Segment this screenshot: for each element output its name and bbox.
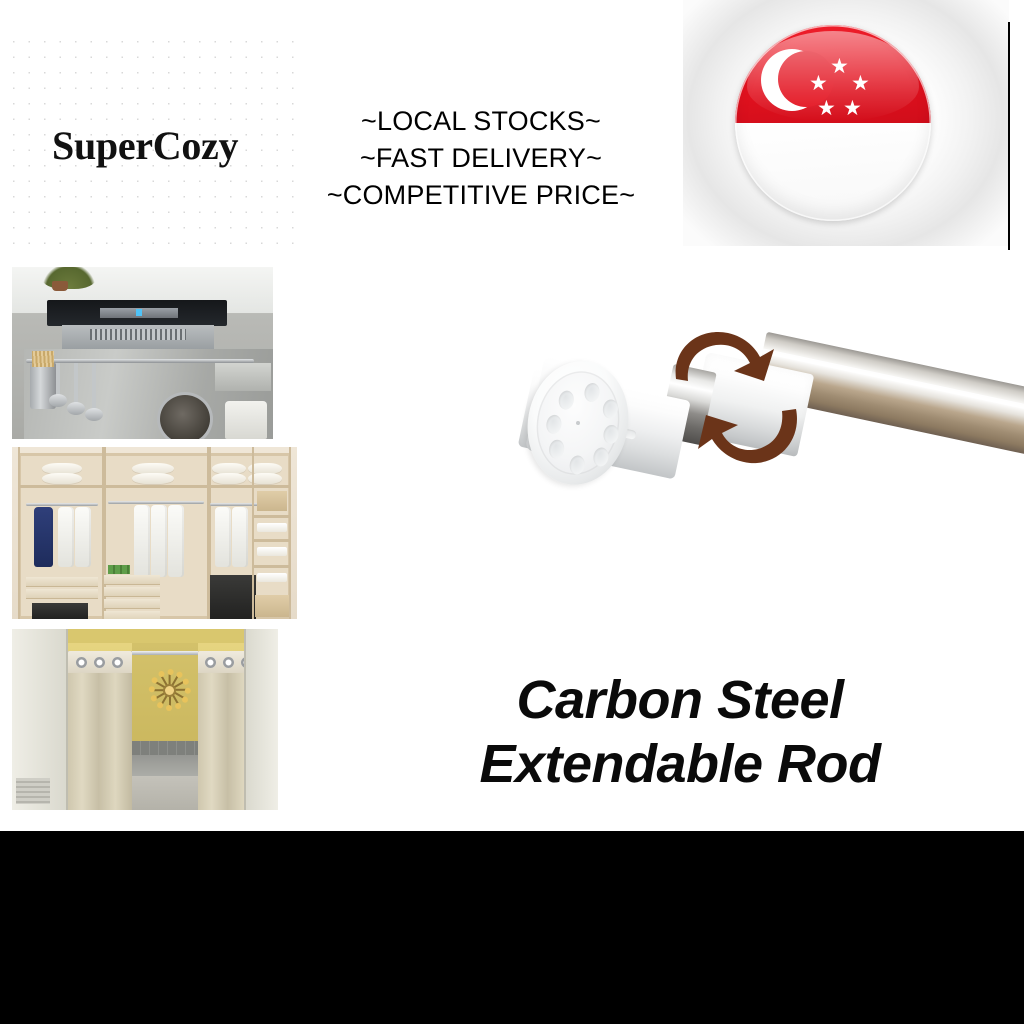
hanging-ladle-2 — [74, 363, 78, 405]
right-shelf-1 — [252, 515, 291, 518]
tagline-competitive-price: ~COMPETITIVE PRICE~ — [288, 177, 674, 214]
hanging-shirt-4 — [151, 505, 167, 577]
end-cap-face — [529, 365, 628, 482]
cap-dimple-2 — [557, 389, 575, 410]
flag-white-band — [735, 123, 931, 221]
folded-linen-3 — [257, 573, 287, 582]
flag-star-5: ★ — [843, 98, 862, 119]
product-listing-image: SuperCozy ~LOCAL STOCKS~ ~FAST DELIVERY~… — [0, 0, 1024, 1024]
drawer-center-4 — [104, 611, 160, 619]
tile-wainscot — [132, 741, 198, 755]
tagline-fast-delivery: ~FAST DELIVERY~ — [288, 140, 674, 177]
thumbnail-wardrobe-scene — [12, 447, 297, 619]
tagline-group: ~LOCAL STOCKS~ ~FAST DELIVERY~ ~COMPETIT… — [288, 103, 674, 214]
hanging-shirt-5 — [168, 505, 184, 577]
extendable-tension-rod-photo — [430, 275, 1024, 655]
hanging-trousers — [210, 575, 256, 619]
cap-dimple-1 — [583, 382, 601, 403]
wall-vent — [16, 778, 50, 804]
right-shelf-2 — [252, 539, 291, 542]
product-title-line-1: Carbon Steel — [420, 668, 940, 732]
range-hood-vent-grille — [90, 329, 186, 340]
tagline-local-stocks: ~LOCAL STOCKS~ — [288, 103, 674, 140]
bottom-drawer-right — [255, 595, 289, 617]
drawer-center-3 — [104, 599, 160, 609]
grommet-l1 — [76, 657, 87, 668]
cap-center-dot — [576, 421, 581, 426]
grommet-r1 — [205, 657, 216, 668]
folded-linen-1 — [257, 523, 287, 532]
cap-dimple-6 — [548, 439, 566, 460]
right-shelf-3 — [252, 565, 291, 568]
brand-logo: SuperCozy — [52, 122, 238, 169]
hanging-ladle-1 — [56, 363, 60, 397]
pillow-4 — [132, 473, 174, 484]
drawer-center-2 — [104, 587, 160, 597]
hanging-shirt-1 — [58, 507, 74, 567]
drawer-left-1 — [26, 577, 98, 587]
hanging-frying-pan — [160, 395, 210, 439]
twist-arrow-bottom-icon — [688, 381, 808, 473]
storage-bottles — [108, 565, 130, 574]
grommet-r2 — [223, 657, 234, 668]
cap-dimple-8 — [568, 454, 586, 475]
drawer-left-2 — [26, 589, 98, 599]
thumbnail-kitchen-rail-scene — [12, 267, 273, 439]
flag-star-3: ★ — [851, 73, 870, 94]
wooden-utensils — [32, 351, 54, 367]
flag-star-2: ★ — [809, 73, 828, 94]
electric-kettle — [225, 401, 267, 439]
flag-star-1: ★ — [830, 56, 849, 77]
closet-rod-center — [108, 501, 204, 504]
hanging-shirt-7 — [232, 507, 248, 567]
closet-rod-left — [26, 503, 98, 506]
hanging-shirt-3 — [134, 505, 150, 577]
hanging-ladle-3 — [92, 363, 96, 411]
hanging-shirt-blue — [34, 507, 53, 567]
clock-center — [165, 686, 174, 695]
kitchen-side-shelf — [215, 363, 271, 391]
cap-dimple-4 — [545, 414, 563, 435]
header-banner: SuperCozy ~LOCAL STOCKS~ ~FAST DELIVERY~… — [0, 0, 1024, 262]
right-door-panel — [244, 629, 278, 810]
drawer-center-1 — [104, 575, 160, 585]
hanging-shirt-6 — [215, 507, 231, 567]
cap-dimple-5 — [602, 424, 620, 445]
folded-linen-2 — [257, 547, 287, 556]
hanging-shirt-2 — [75, 507, 91, 567]
plant-pot — [52, 281, 68, 291]
folded-dark-clothes — [32, 603, 88, 619]
pillow-2 — [42, 473, 82, 484]
closet-rod-right — [210, 503, 258, 506]
floor-area — [132, 776, 198, 810]
product-title-line-2: Extendable Rod — [420, 732, 940, 796]
wardrobe-column-far-right — [252, 447, 291, 619]
range-hood-led-indicator — [136, 309, 142, 316]
grommet-l2 — [94, 657, 105, 668]
header-right-divider — [1008, 22, 1010, 250]
curtain-panel-left — [68, 651, 132, 810]
cap-dimple-3 — [601, 398, 619, 419]
product-title: Carbon Steel Extendable Rod — [420, 668, 940, 796]
starburst-wall-clock — [148, 669, 190, 711]
flag-star-4: ★ — [817, 98, 836, 119]
bottom-letterbox-bar — [0, 831, 1024, 1024]
thumbnail-curtain-doorway-scene — [12, 629, 278, 810]
wardrobe-top-shelf — [18, 485, 291, 488]
cap-dimple-7 — [592, 446, 610, 467]
grommet-l3 — [112, 657, 123, 668]
singapore-flag-icon: ★ ★ ★ ★ ★ — [735, 25, 931, 221]
storage-basket — [257, 491, 287, 511]
pillow-7 — [212, 473, 246, 484]
hanging-plant — [42, 267, 96, 289]
